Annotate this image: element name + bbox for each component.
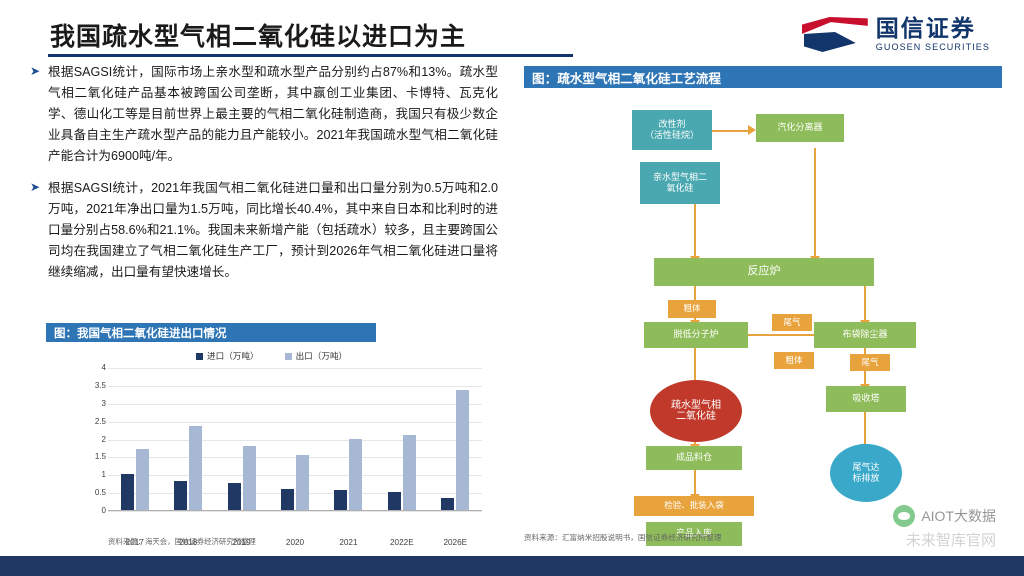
x-axis-tick-label: 2022E	[376, 538, 428, 547]
y-axis-tick-label: 3	[86, 399, 106, 408]
gridline	[108, 386, 482, 387]
x-axis-tick-label: 2026E	[429, 538, 481, 547]
legend-label: 出口（万吨）	[296, 351, 348, 361]
chart-plot-area: 00.511.522.533.5420172018201920202021202…	[108, 368, 482, 511]
bar-group	[228, 446, 256, 510]
node-reactor: 反应炉	[654, 258, 874, 286]
connector	[712, 130, 750, 132]
gridline	[108, 440, 482, 441]
company-logo: 国信证券 GUOSEN SECURITIES	[802, 14, 990, 54]
chart-legend: 进口（万吨） 出口（万吨）	[196, 350, 347, 362]
node-hydrophilic-silica: 亲水型气相二氧化硅	[640, 162, 720, 204]
flow-caption: 图：疏水型气相二氧化硅工艺流程	[524, 66, 1002, 88]
node-modifier: 改性剂（活性硅烷）	[632, 110, 712, 150]
bar-group	[174, 426, 202, 510]
footer-bar	[0, 556, 1024, 576]
gridline	[108, 422, 482, 423]
bar-group	[281, 455, 309, 510]
bar	[281, 489, 294, 510]
logo-name-cn: 国信证券	[876, 17, 990, 40]
node-label: 改性剂（活性硅烷）	[645, 119, 699, 142]
bar	[403, 435, 416, 510]
x-axis-tick-label: 2020	[269, 538, 321, 547]
y-axis-tick-label: 2.5	[86, 417, 106, 426]
body-text-column: ➤ 根据SAGSI统计，国际市场上亲水型和疏水型产品分别约占87%和13%。疏水…	[28, 62, 498, 294]
bar	[228, 483, 241, 510]
bar-group	[334, 439, 362, 511]
node-coarse-1: 粗体	[668, 300, 716, 318]
bar	[441, 498, 454, 511]
node-label: 疏水型气相二氧化硅	[671, 400, 721, 423]
bar	[456, 390, 469, 510]
bar-group	[388, 435, 416, 510]
bar	[174, 481, 187, 510]
flow-source-note: 资料来源：汇富纳米招股说明书，国信证券经济研究所整理	[524, 532, 721, 543]
node-label: 尾气达标排放	[852, 462, 879, 485]
node-absorber: 吸收塔	[826, 386, 906, 412]
node-product-silo: 成品料仓	[646, 446, 742, 470]
node-vaporizer: 汽化分离器	[756, 114, 844, 142]
logo-mark-icon	[802, 15, 868, 53]
slide-header: 我国疏水型气相二氧化硅以进口为主 国信证券 GUOSEN SECURITIES	[0, 0, 1024, 62]
watermark-line-2: 未来智库官网	[906, 529, 996, 550]
y-axis-tick-label: 0.5	[86, 488, 106, 497]
slide: 我国疏水型气相二氧化硅以进口为主 国信证券 GUOSEN SECURITIES …	[0, 0, 1024, 576]
chart-caption: 图：我国气相二氧化硅进出口情况	[46, 323, 376, 342]
bullet-arrow-icon: ➤	[30, 180, 40, 194]
bar-group	[121, 449, 149, 510]
connector	[864, 284, 866, 322]
connector	[864, 412, 866, 446]
node-emission-standard: 尾气达标排放	[830, 444, 902, 502]
title-underline	[48, 54, 573, 57]
bar	[349, 439, 362, 511]
bullet-text: 根据SAGSI统计，国际市场上亲水型和疏水型产品分别约占87%和13%。疏水型气…	[48, 62, 498, 167]
node-tail-gas-2: 尾气	[850, 354, 890, 371]
bar-group	[441, 390, 469, 510]
legend-label: 进口（万吨）	[207, 351, 259, 361]
y-axis-tick-label: 2	[86, 435, 106, 444]
connector	[694, 470, 696, 496]
gridline	[108, 404, 482, 405]
node-tail-gas-1: 尾气	[772, 314, 812, 331]
node-inspection-packing: 检验、批装入袋	[634, 496, 754, 516]
node-bag-filter: 布袋除尘器	[814, 322, 916, 348]
bar	[121, 474, 134, 510]
bullet-arrow-icon: ➤	[30, 64, 40, 78]
chart-source-note: 资料来源：海天会，国信证券经济研究所整理	[108, 536, 256, 547]
node-coarse-2: 粗体	[774, 352, 814, 369]
bullet-item: ➤ 根据SAGSI统计，国际市场上亲水型和疏水型产品分别约占87%和13%。疏水…	[28, 62, 498, 167]
logo-name-en: GUOSEN SECURITIES	[876, 43, 990, 52]
bar	[296, 455, 309, 510]
legend-item-export: 出口（万吨）	[285, 350, 348, 362]
watermark: AIOT大数据 未来智库官网	[893, 505, 996, 550]
legend-item-import: 进口（万吨）	[196, 350, 259, 362]
bar	[388, 492, 401, 510]
connector-arrow-icon	[748, 125, 756, 135]
y-axis-tick-label: 1.5	[86, 452, 106, 461]
node-label: 亲水型气相二氧化硅	[653, 172, 707, 195]
leaf-icon	[893, 505, 915, 527]
y-axis-tick-label: 3.5	[86, 381, 106, 390]
y-axis-tick-label: 0	[86, 506, 106, 515]
page-title: 我国疏水型气相二氧化硅以进口为主	[50, 17, 466, 53]
process-flow-diagram: 改性剂（活性硅烷） 汽化分离器 亲水型气相二氧化硅 反应炉 粗体 脱低分子炉 尾…	[524, 92, 1002, 532]
bar	[189, 426, 202, 510]
node-hydrophobic-silica: 疏水型气相二氧化硅	[650, 380, 742, 442]
y-axis-tick-label: 1	[86, 470, 106, 479]
connector	[814, 148, 816, 258]
bullet-text: 根据SAGSI统计，2021年我国气相二氧化硅进口量和出口量分别为0.5万吨和2…	[48, 178, 498, 283]
import-export-bar-chart: 进口（万吨） 出口（万吨） 00.511.522.533.54201720182…	[46, 346, 498, 549]
gridline	[108, 511, 482, 512]
bar	[243, 446, 256, 510]
bullet-item: ➤ 根据SAGSI统计，2021年我国气相二氧化硅进口量和出口量分别为0.5万吨…	[28, 178, 498, 283]
bar	[334, 490, 347, 510]
watermark-line-1: AIOT大数据	[921, 506, 996, 526]
bar	[136, 449, 149, 510]
node-low-molecule-furnace: 脱低分子炉	[644, 322, 748, 348]
x-axis-tick-label: 2021	[322, 538, 374, 547]
gridline	[108, 368, 482, 369]
y-axis-tick-label: 4	[86, 363, 106, 372]
